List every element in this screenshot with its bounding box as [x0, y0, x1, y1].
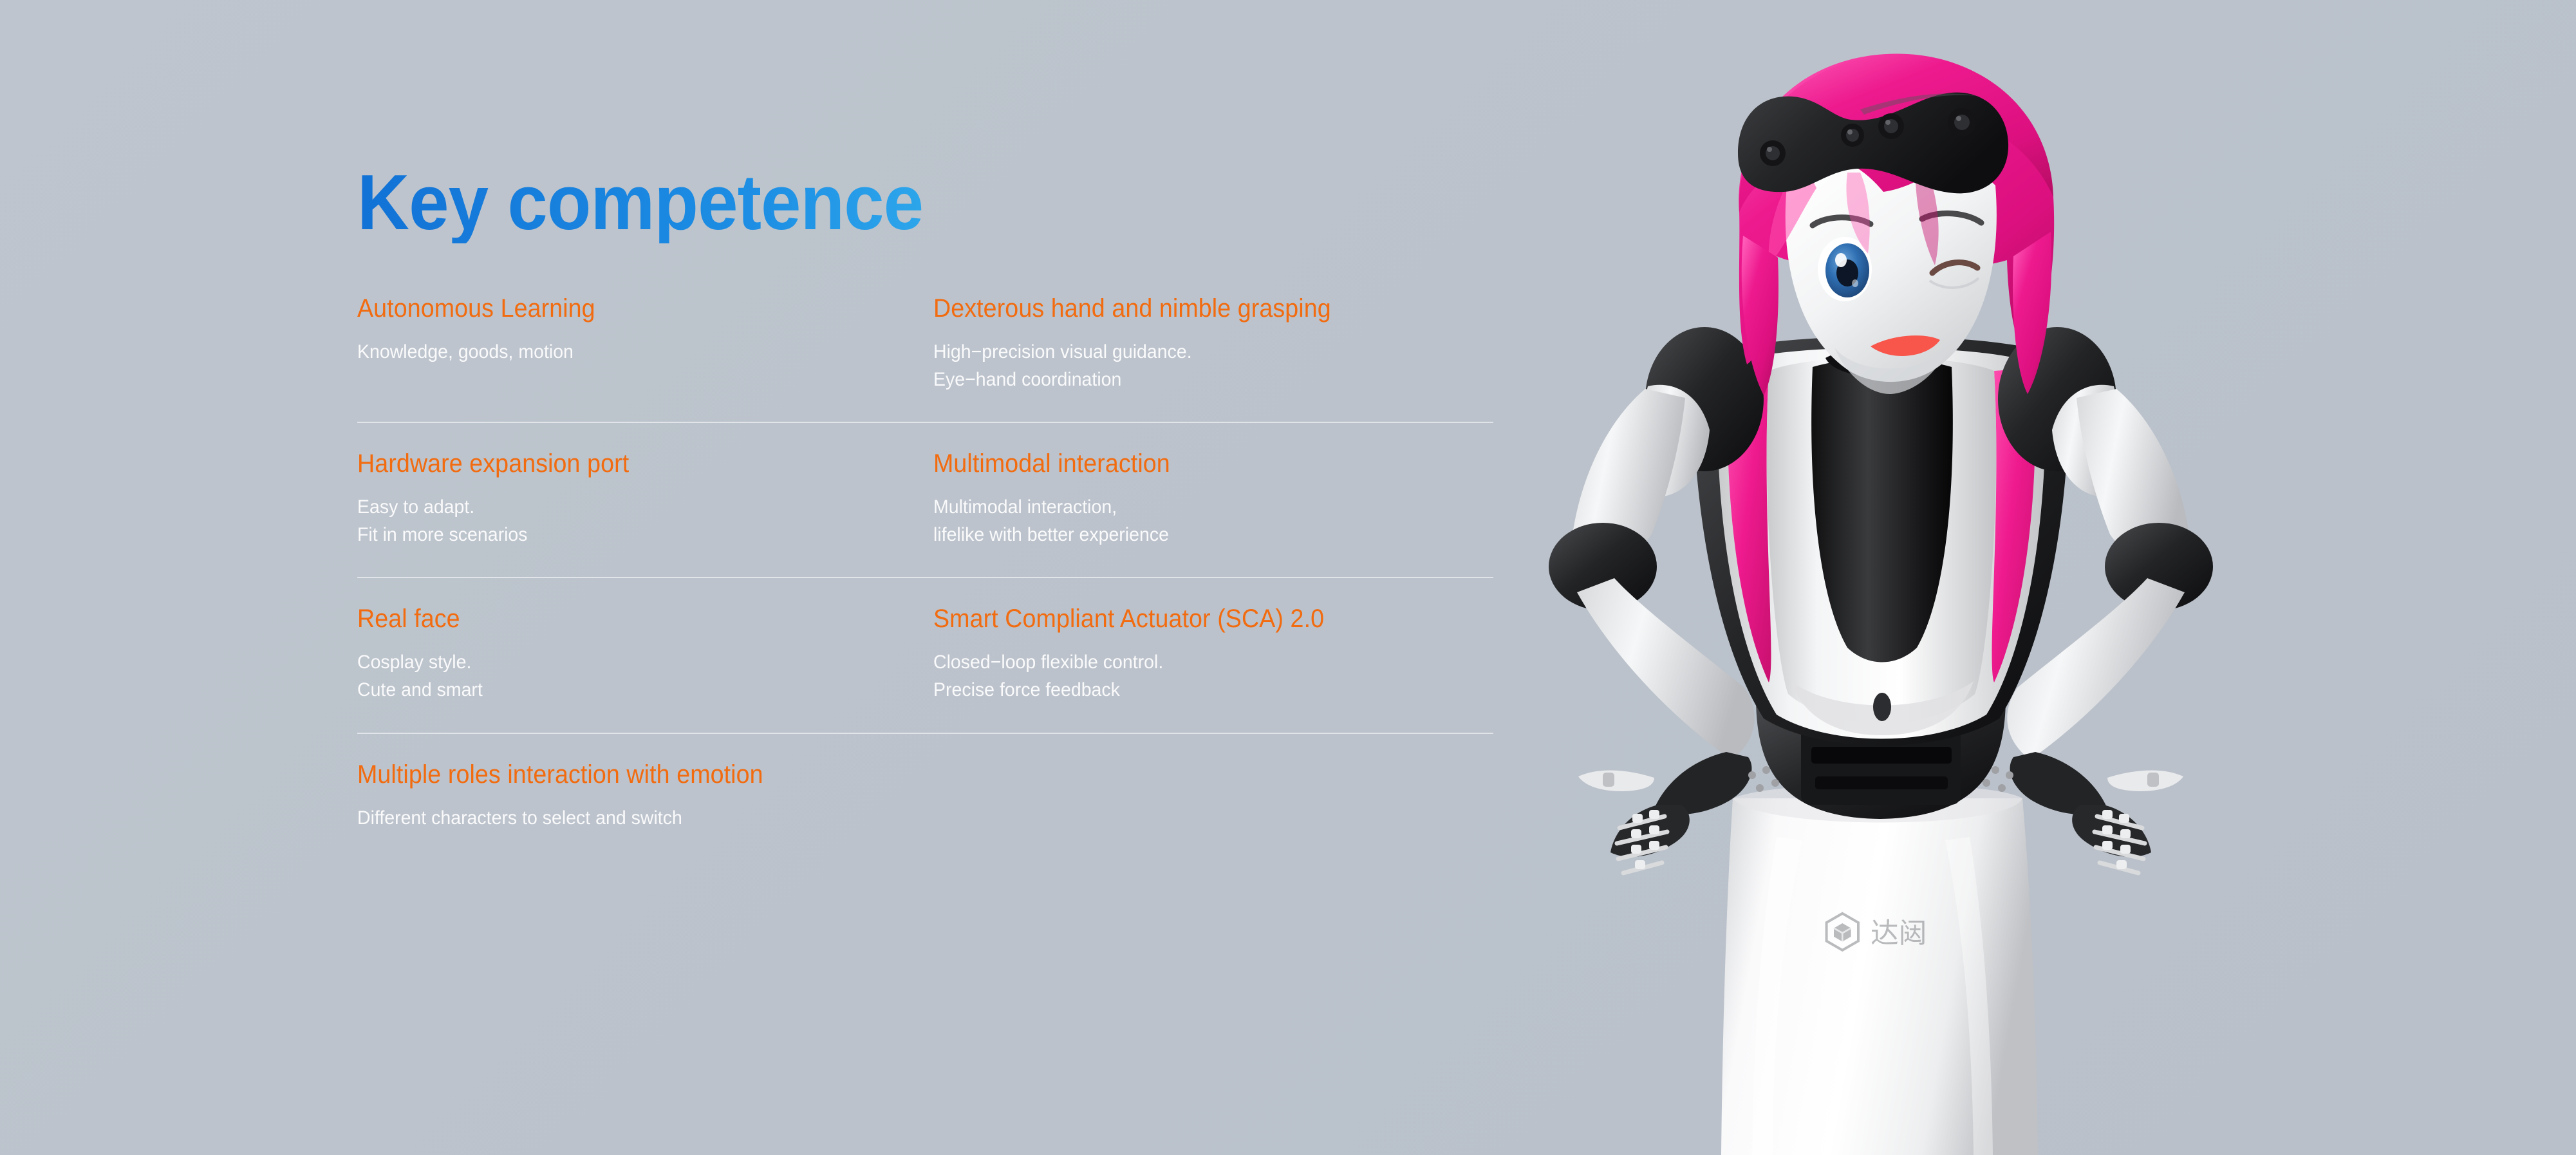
feature-cell-dexterous-hand[interactable]: Dexterous hand and nimble grasping High−… — [933, 294, 1509, 393]
feature-cell-multimodal-interaction[interactable]: Multimodal interaction Multimodal intera… — [933, 449, 1509, 549]
robot-waist-slot-upper — [1811, 747, 1952, 764]
content-panel: Key competence Autonomous Learning Knowl… — [357, 161, 1509, 832]
feature-description: Knowledge, goods, motion — [357, 339, 880, 366]
feature-row: Multiple roles interaction with emotion … — [357, 760, 1509, 832]
feature-cell-smart-compliant-actuator[interactable]: Smart Compliant Actuator (SCA) 2.0 Close… — [933, 604, 1509, 704]
slide-canvas: Key competence Autonomous Learning Knowl… — [0, 0, 2576, 1155]
feature-row: Real face Cosplay style. Cute and smart … — [357, 604, 1509, 704]
brand-logo-text: 达闼 — [1871, 917, 1927, 950]
feature-description: Different characters to select and switc… — [357, 805, 1428, 832]
feature-description: Closed−loop flexible control. Precise fo… — [933, 649, 1456, 704]
page-title: Key competence — [357, 161, 1417, 243]
feature-heading: Hardware expansion port — [357, 449, 875, 478]
robot-lower-body — [1721, 784, 2038, 1155]
feature-heading: Multimodal interaction — [933, 449, 1451, 478]
feature-cell-hardware-expansion-port[interactable]: Hardware expansion port Easy to adapt. F… — [357, 449, 933, 549]
robot-hand-right — [2010, 752, 2183, 873]
feature-cell-multiple-roles-interaction[interactable]: Multiple roles interaction with emotion … — [357, 760, 1509, 832]
robot-waist-slot-lower — [1815, 776, 1948, 789]
feature-heading: Real face — [357, 604, 875, 634]
row-divider — [357, 733, 1493, 734]
feature-row: Hardware expansion port Easy to adapt. F… — [357, 449, 1509, 549]
feature-description: Cosplay style. Cute and smart — [357, 649, 880, 704]
robot-thumb-right — [2107, 770, 2183, 791]
robot-illustration: 达闼 — [1500, 0, 2356, 1155]
feature-heading: Multiple roles interaction with emotion — [357, 760, 1416, 789]
robot-thumb-joint-left — [1603, 773, 1614, 787]
row-divider — [357, 422, 1493, 423]
feature-heading: Dexterous hand and nimble grasping — [933, 294, 1451, 323]
feature-cell-real-face[interactable]: Real face Cosplay style. Cute and smart — [357, 604, 933, 704]
robot-hand-left — [1578, 752, 1751, 873]
feature-cell-autonomous-learning[interactable]: Autonomous Learning Knowledge, goods, mo… — [357, 294, 933, 393]
feature-row: Autonomous Learning Knowledge, goods, mo… — [357, 294, 1509, 393]
feature-description: Easy to adapt. Fit in more scenarios — [357, 494, 880, 549]
feature-heading: Autonomous Learning — [357, 294, 875, 323]
row-divider — [357, 577, 1493, 578]
feature-description: High−precision visual guidance. Eye−hand… — [933, 339, 1456, 393]
robot-thumb-joint-right — [2147, 773, 2159, 787]
feature-description: Multimodal interaction, lifelike with be… — [933, 494, 1456, 549]
robot-thumb-left — [1578, 770, 1654, 791]
robot-belly-port — [1873, 693, 1891, 721]
feature-heading: Smart Compliant Actuator (SCA) 2.0 — [933, 604, 1451, 634]
